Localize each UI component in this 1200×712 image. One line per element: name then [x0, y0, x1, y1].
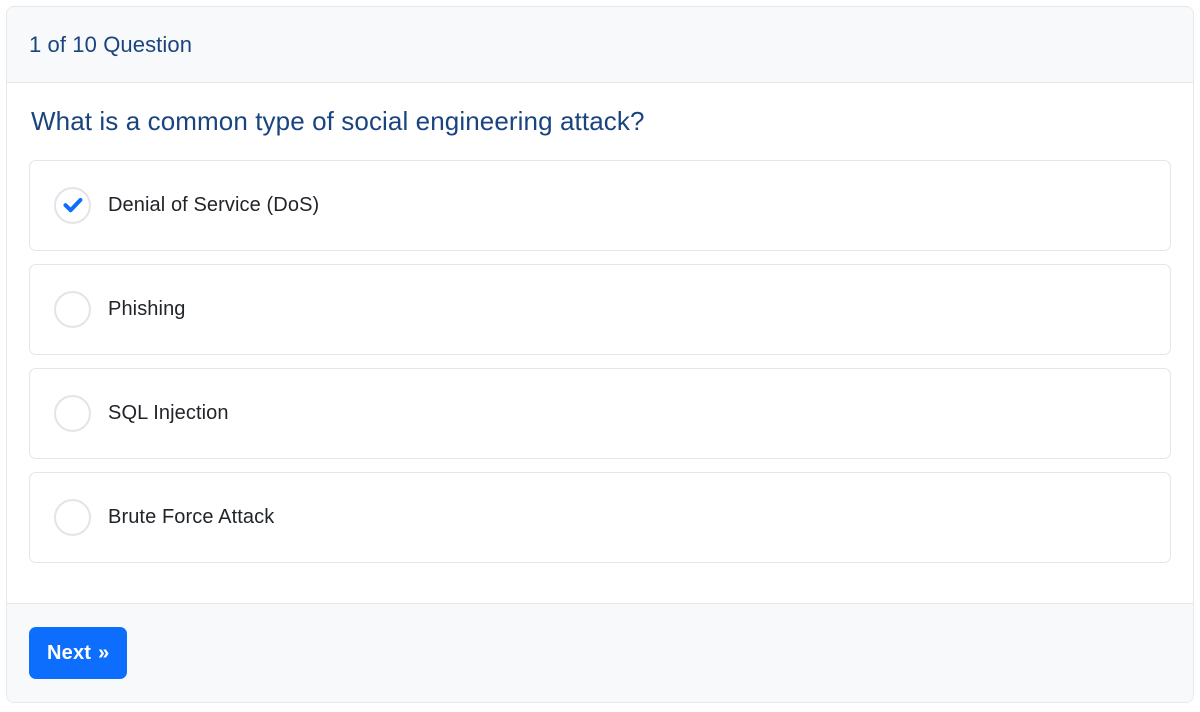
quiz-header: 1 of 10 Question	[7, 7, 1193, 83]
quiz-card: 1 of 10 Question What is a common type o…	[6, 6, 1194, 703]
answer-option-3[interactable]: SQL Injection	[29, 368, 1171, 459]
answer-option-label: Phishing	[108, 299, 186, 319]
answer-options-list: Denial of Service (DoS) Phishing SQL Inj…	[29, 160, 1171, 563]
answer-option-4[interactable]: Brute Force Attack	[29, 472, 1171, 563]
check-icon[interactable]	[54, 187, 91, 224]
empty-radio-icon[interactable]	[54, 291, 91, 328]
answer-option-1[interactable]: Denial of Service (DoS)	[29, 160, 1171, 251]
question-title: What is a common type of social engineer…	[31, 105, 1171, 138]
answer-option-label: Denial of Service (DoS)	[108, 195, 319, 215]
empty-radio-icon[interactable]	[54, 499, 91, 536]
question-progress-label: 1 of 10 Question	[29, 32, 192, 58]
next-button[interactable]: Next »	[29, 627, 127, 679]
answer-option-2[interactable]: Phishing	[29, 264, 1171, 355]
quiz-body: What is a common type of social engineer…	[7, 83, 1193, 603]
empty-radio-icon[interactable]	[54, 395, 91, 432]
answer-option-label: SQL Injection	[108, 403, 229, 423]
quiz-footer: Next »	[7, 603, 1193, 702]
answer-option-label: Brute Force Attack	[108, 507, 274, 527]
double-chevron-right-icon: »	[98, 643, 109, 663]
next-button-label: Next	[47, 642, 91, 665]
